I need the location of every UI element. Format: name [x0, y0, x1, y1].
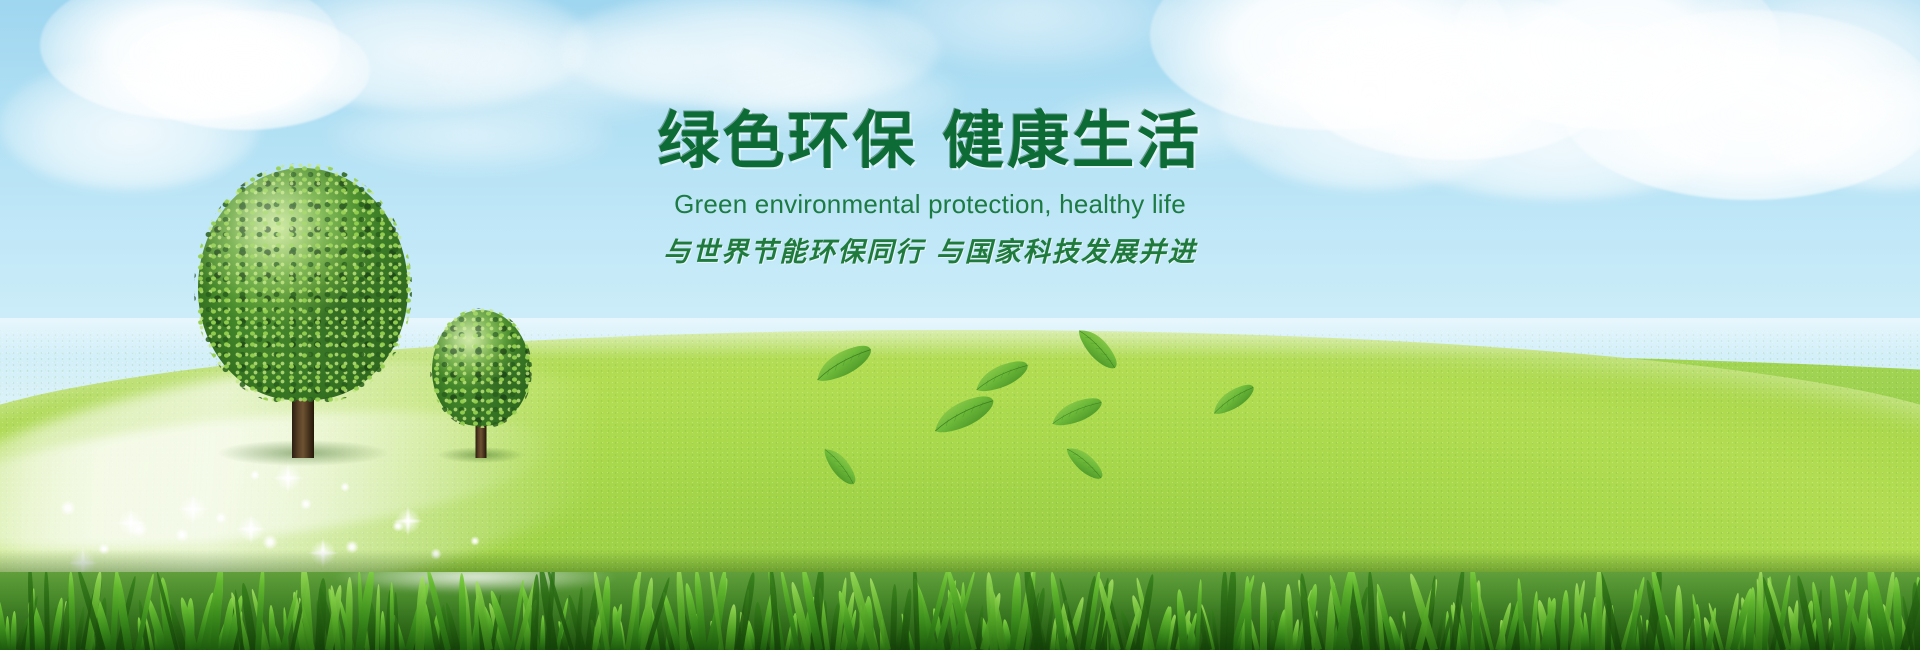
- path-star-sparkle: [385, 498, 431, 544]
- grass-blade: [1675, 585, 1683, 650]
- path-sparkle: [215, 512, 227, 524]
- grass-blade: [1367, 572, 1376, 650]
- banner-tagline: 与世界节能环保同行 与国家科技发展并进: [620, 230, 1240, 269]
- path-sparkle: [430, 548, 442, 560]
- cloud-puff: [330, 100, 610, 170]
- grass-blade: [44, 572, 51, 650]
- path-star-sparkle: [170, 486, 216, 532]
- grass-blade: [68, 572, 76, 650]
- cloud-puff: [1390, 80, 1730, 200]
- grass-border: [0, 572, 1920, 650]
- banner-copy: 绿色环保 健康生活 Green environmental protection…: [620, 108, 1240, 269]
- banner-subtitle: Green environmental protection, healthy …: [620, 189, 1240, 220]
- path-sparkle: [250, 470, 260, 480]
- banner-headline: 绿色环保 健康生活: [620, 108, 1240, 175]
- path-star-sparkle: [300, 530, 346, 576]
- large-tree: [198, 168, 408, 458]
- grass-blade: [1595, 572, 1603, 650]
- small-tree: [432, 310, 530, 458]
- path-sparkle: [345, 540, 359, 554]
- small-tree-canopy: [432, 310, 530, 426]
- path-sparkle: [340, 482, 350, 492]
- large-tree-canopy: [198, 168, 408, 400]
- eco-banner: 绿色环保 健康生活 Green environmental protection…: [0, 0, 1920, 650]
- path-star-sparkle: [228, 506, 274, 552]
- path-sparkle: [60, 500, 76, 516]
- path-sparkle: [470, 536, 480, 546]
- grass-blade: [1284, 584, 1292, 650]
- path-star-sparkle: [108, 500, 154, 546]
- grass-blade: [345, 577, 353, 650]
- grass-blade: [1260, 582, 1267, 650]
- grass-blade: [267, 605, 276, 650]
- grass-blade: [394, 592, 399, 650]
